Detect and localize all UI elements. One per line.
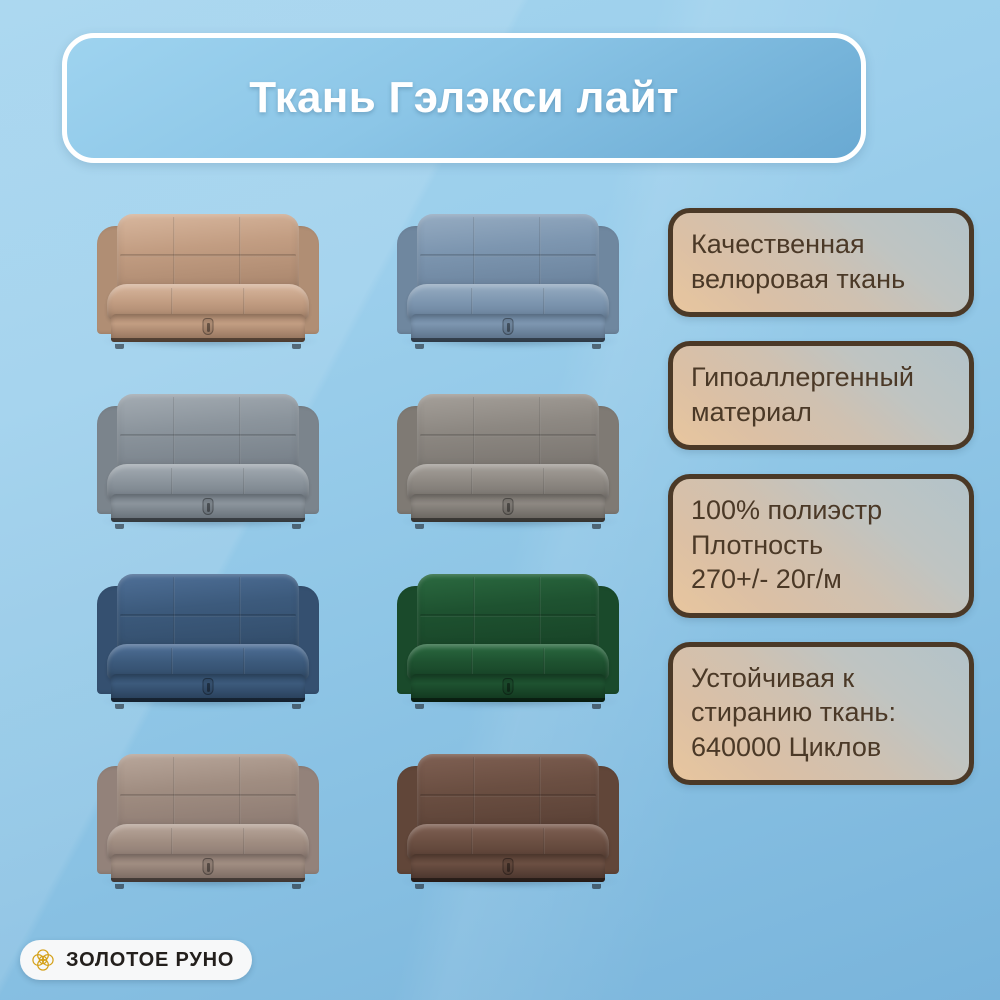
feature-text-line: Качественная bbox=[691, 227, 951, 262]
sofa-foot bbox=[592, 344, 601, 349]
backrest-seam bbox=[239, 577, 241, 648]
backrest-seam bbox=[120, 254, 296, 257]
seat-seam bbox=[471, 648, 473, 677]
sofa-foot bbox=[592, 524, 601, 529]
sofa-swatch-navy[interactable] bbox=[58, 550, 358, 730]
sofa-base-lip bbox=[111, 338, 305, 342]
sofa-pull-handle-icon bbox=[203, 858, 214, 875]
seat-seam bbox=[171, 468, 173, 497]
feature-text-line: велюровая ткань bbox=[691, 262, 951, 297]
sofa-illustration bbox=[97, 754, 319, 886]
sofa-base-lip bbox=[411, 338, 605, 342]
seat-seam bbox=[243, 648, 245, 677]
sofa-base-lip bbox=[411, 518, 605, 522]
backrest-seam bbox=[420, 614, 596, 617]
sofa-pull-handle-icon bbox=[503, 858, 514, 875]
seat-seam bbox=[471, 288, 473, 317]
feature-hypoallergenic: Гипоаллергенныйматериал bbox=[668, 341, 974, 450]
sofa-backrest bbox=[117, 214, 299, 292]
sofa-foot bbox=[415, 524, 424, 529]
sofa-pull-handle-icon bbox=[203, 498, 214, 515]
sofa-swatch-taupe[interactable] bbox=[58, 730, 358, 910]
sofa-swatch-warm-grey[interactable] bbox=[358, 370, 658, 550]
backrest-seam bbox=[420, 794, 596, 797]
sofa-pull-handle-icon bbox=[503, 318, 514, 335]
seat-seam bbox=[243, 828, 245, 857]
backrest-seam bbox=[173, 217, 175, 288]
backrest-seam bbox=[473, 757, 475, 828]
seat-seam bbox=[543, 288, 545, 317]
backrest-seam bbox=[239, 217, 241, 288]
sofa-illustration bbox=[97, 574, 319, 706]
backrest-seam bbox=[120, 434, 296, 437]
sofa-base-lip bbox=[411, 698, 605, 702]
backrest-seam bbox=[420, 254, 596, 257]
sofa-illustration bbox=[97, 394, 319, 526]
sofa-foot bbox=[592, 884, 601, 889]
sofa-base-lip bbox=[111, 878, 305, 882]
seat-seam bbox=[471, 828, 473, 857]
sofa-foot bbox=[292, 704, 301, 709]
sofa-illustration bbox=[397, 214, 619, 346]
feature-text-line: 640000 Циклов bbox=[691, 730, 951, 765]
sofa-swatch-dark-green[interactable] bbox=[358, 550, 658, 730]
sofa-pull-handle-icon bbox=[203, 678, 214, 695]
mandala-icon bbox=[29, 946, 57, 974]
sofa-foot bbox=[592, 704, 601, 709]
seat-seam bbox=[243, 468, 245, 497]
backrest-seam bbox=[120, 794, 296, 797]
sofa-pull-handle-icon bbox=[503, 498, 514, 515]
backrest-seam bbox=[420, 434, 596, 437]
seat-seam bbox=[171, 288, 173, 317]
sofa-foot bbox=[292, 344, 301, 349]
brand-logo-text: ЗОЛОТОЕ РУНО bbox=[66, 949, 234, 972]
sofa-foot bbox=[115, 344, 124, 349]
feature-durability: Устойчивая кстиранию ткань:640000 Циклов bbox=[668, 642, 974, 786]
sofa-pull-handle-icon bbox=[203, 318, 214, 335]
seat-seam bbox=[543, 648, 545, 677]
backrest-seam bbox=[473, 577, 475, 648]
sofa-swatch-blue-grey[interactable] bbox=[358, 190, 658, 370]
sofa-illustration bbox=[397, 754, 619, 886]
page-title: Ткань Гэлэкси лайт bbox=[249, 73, 679, 123]
sofa-backrest bbox=[417, 574, 599, 652]
sofa-backrest bbox=[417, 214, 599, 292]
seat-seam bbox=[171, 828, 173, 857]
backrest-seam bbox=[539, 397, 541, 468]
sofa-backrest bbox=[417, 754, 599, 832]
feature-quality: Качественнаявелюровая ткань bbox=[668, 208, 974, 317]
sofa-backrest bbox=[417, 394, 599, 472]
brand-logo: ЗОЛОТОЕ РУНО bbox=[20, 940, 252, 980]
backrest-seam bbox=[473, 397, 475, 468]
sofa-foot bbox=[415, 704, 424, 709]
backrest-seam bbox=[120, 614, 296, 617]
feature-text-line: 270+/- 20г/м bbox=[691, 562, 951, 597]
backrest-seam bbox=[173, 577, 175, 648]
sofa-swatch-cool-grey[interactable] bbox=[58, 370, 358, 550]
sofa-base-lip bbox=[411, 878, 605, 882]
feature-text-line: Устойчивая к bbox=[691, 661, 951, 696]
sofa-illustration bbox=[97, 214, 319, 346]
feature-badge-list: Качественнаявелюровая тканьГипоаллергенн… bbox=[668, 208, 974, 785]
sofa-backrest bbox=[117, 754, 299, 832]
sofa-base-lip bbox=[111, 518, 305, 522]
sofa-foot bbox=[115, 704, 124, 709]
sofa-illustration bbox=[397, 574, 619, 706]
sofa-pull-handle-icon bbox=[503, 678, 514, 695]
sofa-foot bbox=[292, 524, 301, 529]
backrest-seam bbox=[239, 757, 241, 828]
sofa-swatch-brown[interactable] bbox=[358, 730, 658, 910]
seat-seam bbox=[243, 288, 245, 317]
feature-composition: 100% полиэстрПлотность270+/- 20г/м bbox=[668, 474, 974, 618]
backrest-seam bbox=[539, 217, 541, 288]
backrest-seam bbox=[539, 577, 541, 648]
feature-text-line: 100% полиэстр bbox=[691, 493, 951, 528]
sofa-foot bbox=[292, 884, 301, 889]
seat-seam bbox=[171, 648, 173, 677]
promo-page: Ткань Гэлэкси лайт Качественнаявелюровая… bbox=[0, 0, 1000, 1000]
sofa-backrest bbox=[117, 574, 299, 652]
sofa-base-lip bbox=[111, 698, 305, 702]
seat-seam bbox=[471, 468, 473, 497]
feature-text-line: Плотность bbox=[691, 528, 951, 563]
backrest-seam bbox=[473, 217, 475, 288]
sofa-color-grid bbox=[58, 190, 658, 910]
backrest-seam bbox=[239, 397, 241, 468]
backrest-seam bbox=[539, 757, 541, 828]
sofa-backrest bbox=[117, 394, 299, 472]
sofa-swatch-beige[interactable] bbox=[58, 190, 358, 370]
sofa-foot bbox=[115, 884, 124, 889]
feature-text-line: стиранию ткань: bbox=[691, 695, 951, 730]
feature-text-line: материал bbox=[691, 395, 951, 430]
sofa-foot bbox=[115, 524, 124, 529]
sofa-foot bbox=[415, 344, 424, 349]
backrest-seam bbox=[173, 397, 175, 468]
seat-seam bbox=[543, 828, 545, 857]
seat-seam bbox=[543, 468, 545, 497]
backrest-seam bbox=[173, 757, 175, 828]
sofa-foot bbox=[415, 884, 424, 889]
title-banner: Ткань Гэлэкси лайт bbox=[62, 33, 866, 163]
feature-text-line: Гипоаллергенный bbox=[691, 360, 951, 395]
sofa-illustration bbox=[397, 394, 619, 526]
